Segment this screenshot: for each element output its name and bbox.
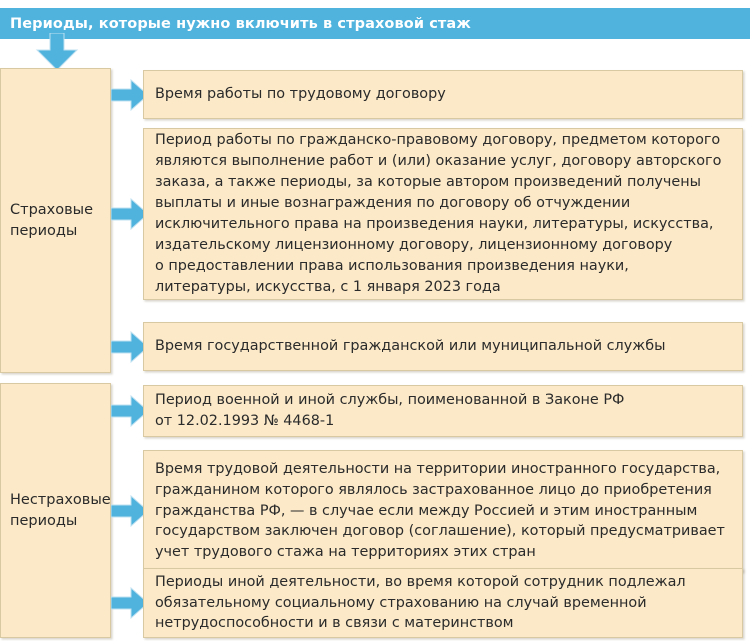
content-box: Время работы по трудовому договору xyxy=(143,70,743,119)
group-label-insurance-periods: Страховые периоды xyxy=(0,68,111,373)
content-text: Время государственной гражданской или му… xyxy=(155,336,665,357)
arrow-down-icon xyxy=(35,33,79,71)
group-label-text: Нестраховые периоды xyxy=(10,490,111,531)
content-text: Время трудовой деятельности на территори… xyxy=(155,459,725,564)
content-box: Период работы по гражданско-правовому до… xyxy=(143,128,743,300)
content-text: Период работы по гражданско-правовому до… xyxy=(155,130,721,298)
header-banner: Периоды, которые нужно включить в страхо… xyxy=(0,8,750,39)
content-box: Периоды иной деятельности, во время кото… xyxy=(143,568,743,638)
page-title: Периоды, которые нужно включить в страхо… xyxy=(10,16,471,32)
content-text: Время работы по трудовому договору xyxy=(155,84,446,105)
content-box: Время государственной гражданской или му… xyxy=(143,322,743,371)
content-text: Периоды иной деятельности, во время кото… xyxy=(155,572,686,635)
group-label-non-insurance-periods: Нестраховые периоды xyxy=(0,383,111,638)
group-label-text: Страховые периоды xyxy=(10,200,93,241)
content-box: Время трудовой деятельности на территори… xyxy=(143,450,743,572)
content-text: Период военной и иной службы, поименован… xyxy=(155,390,624,432)
content-box: Период военной и иной службы, поименован… xyxy=(143,385,743,437)
